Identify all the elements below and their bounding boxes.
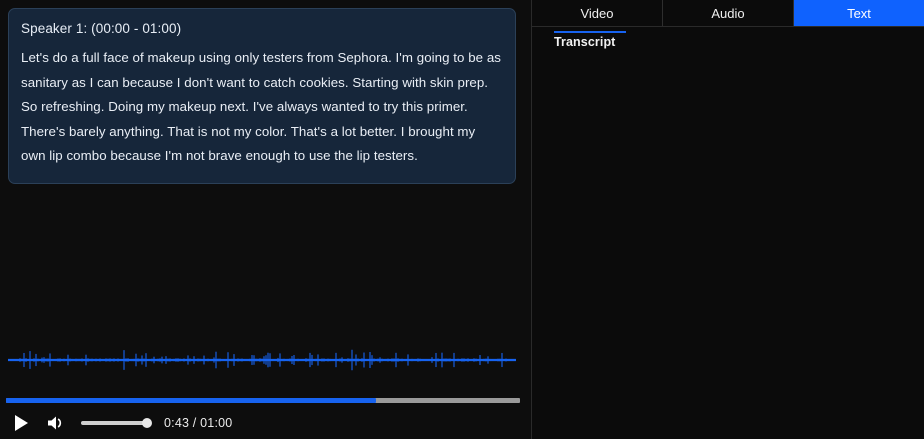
volume-icon[interactable] [41,409,73,437]
transcript-speaker-header: Speaker 1: (00:00 - 01:00) [21,19,503,39]
playback-time-label: 0:43 / 01:00 [164,416,232,430]
emotion-analysis-app: Speaker 1: (00:00 - 01:00) Let's do a fu… [0,0,924,439]
subtab-active-indicator [554,31,626,33]
volume-slider-knob[interactable] [142,418,152,428]
transcript-card[interactable]: Speaker 1: (00:00 - 01:00) Let's do a fu… [8,8,516,184]
player-controls: 0:43 / 01:00 [0,406,532,439]
volume-slider[interactable] [81,421,151,425]
audio-waveform[interactable] [8,340,516,380]
playback-progress-fill [6,398,376,403]
transcript-body-text: Let's do a full face of makeup using onl… [21,46,503,169]
tab-audio[interactable]: Audio [663,0,794,26]
analysis-panel: Video Audio Text Transcript Selected sen… [532,0,924,439]
tab-text[interactable]: Text [794,0,924,26]
tab-video[interactable]: Video [532,0,663,26]
playback-progress-track[interactable] [6,398,520,403]
play-icon[interactable] [6,409,36,437]
media-panel: Speaker 1: (00:00 - 01:00) Let's do a fu… [0,0,532,439]
main-tabs: Video Audio Text [532,0,924,27]
